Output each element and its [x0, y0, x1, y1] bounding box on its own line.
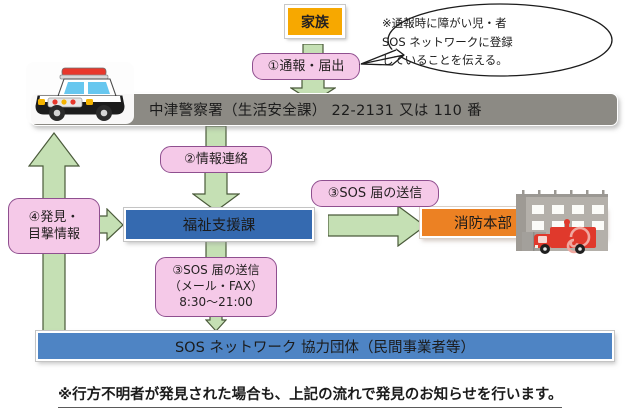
- arrow-welfare-to-fire-hq: [328, 205, 426, 247]
- family-label: 家族: [301, 12, 329, 32]
- step3-detail-line-1: ③SOS 届の送信: [172, 263, 259, 279]
- note-line-2: SOS ネットワークに登録: [382, 33, 572, 52]
- footer-note: ※行方不明者が発見された場合も、上記の流れで発見のお知らせを行います。: [58, 383, 562, 408]
- step3-send-right-box: ③SOS 届の送信: [311, 180, 439, 207]
- note-line-1: ※通報時に障がい児・者: [382, 14, 572, 33]
- step3-detail-line-3: 8:30～21:00: [179, 295, 253, 311]
- police-station-label: 中津警察署（生活安全課） 22-2131 又は 110 番: [149, 99, 482, 120]
- note-bubble-text: ※通報時に障がい児・者 SOS ネットワークに登録 していることを伝える。: [382, 14, 572, 70]
- fire-station-illustration: [504, 188, 622, 260]
- welfare-support-box: 福祉支援課: [124, 208, 314, 241]
- step4-line-1: ④発見・: [29, 209, 80, 226]
- step4-discovery-box: ④発見・ 目撃情報: [8, 198, 100, 254]
- step4-line-2: 目撃情報: [28, 226, 80, 243]
- welfare-support-label: 福祉支援課: [183, 214, 256, 235]
- step3-right-label: ③SOS 届の送信: [328, 185, 423, 202]
- arrow-police-to-step2: [205, 126, 227, 148]
- sos-network-label: SOS ネットワーク 協力団体（民間事業者等）: [175, 336, 475, 357]
- step1-label: ①通報・届出: [268, 58, 345, 75]
- step3-send-detail-box: ③SOS 届の送信 （メール・FAX） 8:30～21:00: [155, 257, 277, 317]
- step2-label: ②情報連絡: [184, 151, 248, 168]
- police-car-illustration: [24, 56, 136, 128]
- flow-diagram-canvas: 中津警察署（生活安全課） 22-2131 又は 110 番 家族 ①通報・届出 …: [0, 0, 640, 415]
- step2-info-box: ②情報連絡: [160, 146, 272, 173]
- family-box: 家族: [285, 5, 345, 38]
- footer-note-label: ※行方不明者が発見された場合も、上記の流れで発見のお知らせを行います。: [58, 387, 562, 403]
- sos-network-bar: SOS ネットワーク 協力団体（民間事業者等）: [36, 331, 614, 361]
- arrow-step2-to-welfare: [192, 172, 240, 212]
- step1-report-box: ①通報・届出: [252, 53, 360, 80]
- step3-detail-line-2: （メール・FAX）: [169, 279, 263, 295]
- note-line-3: していることを伝える。: [382, 51, 572, 70]
- note-speech-bubble: ※通報時に障がい児・者 SOS ネットワークに登録 していることを伝える。: [352, 2, 622, 84]
